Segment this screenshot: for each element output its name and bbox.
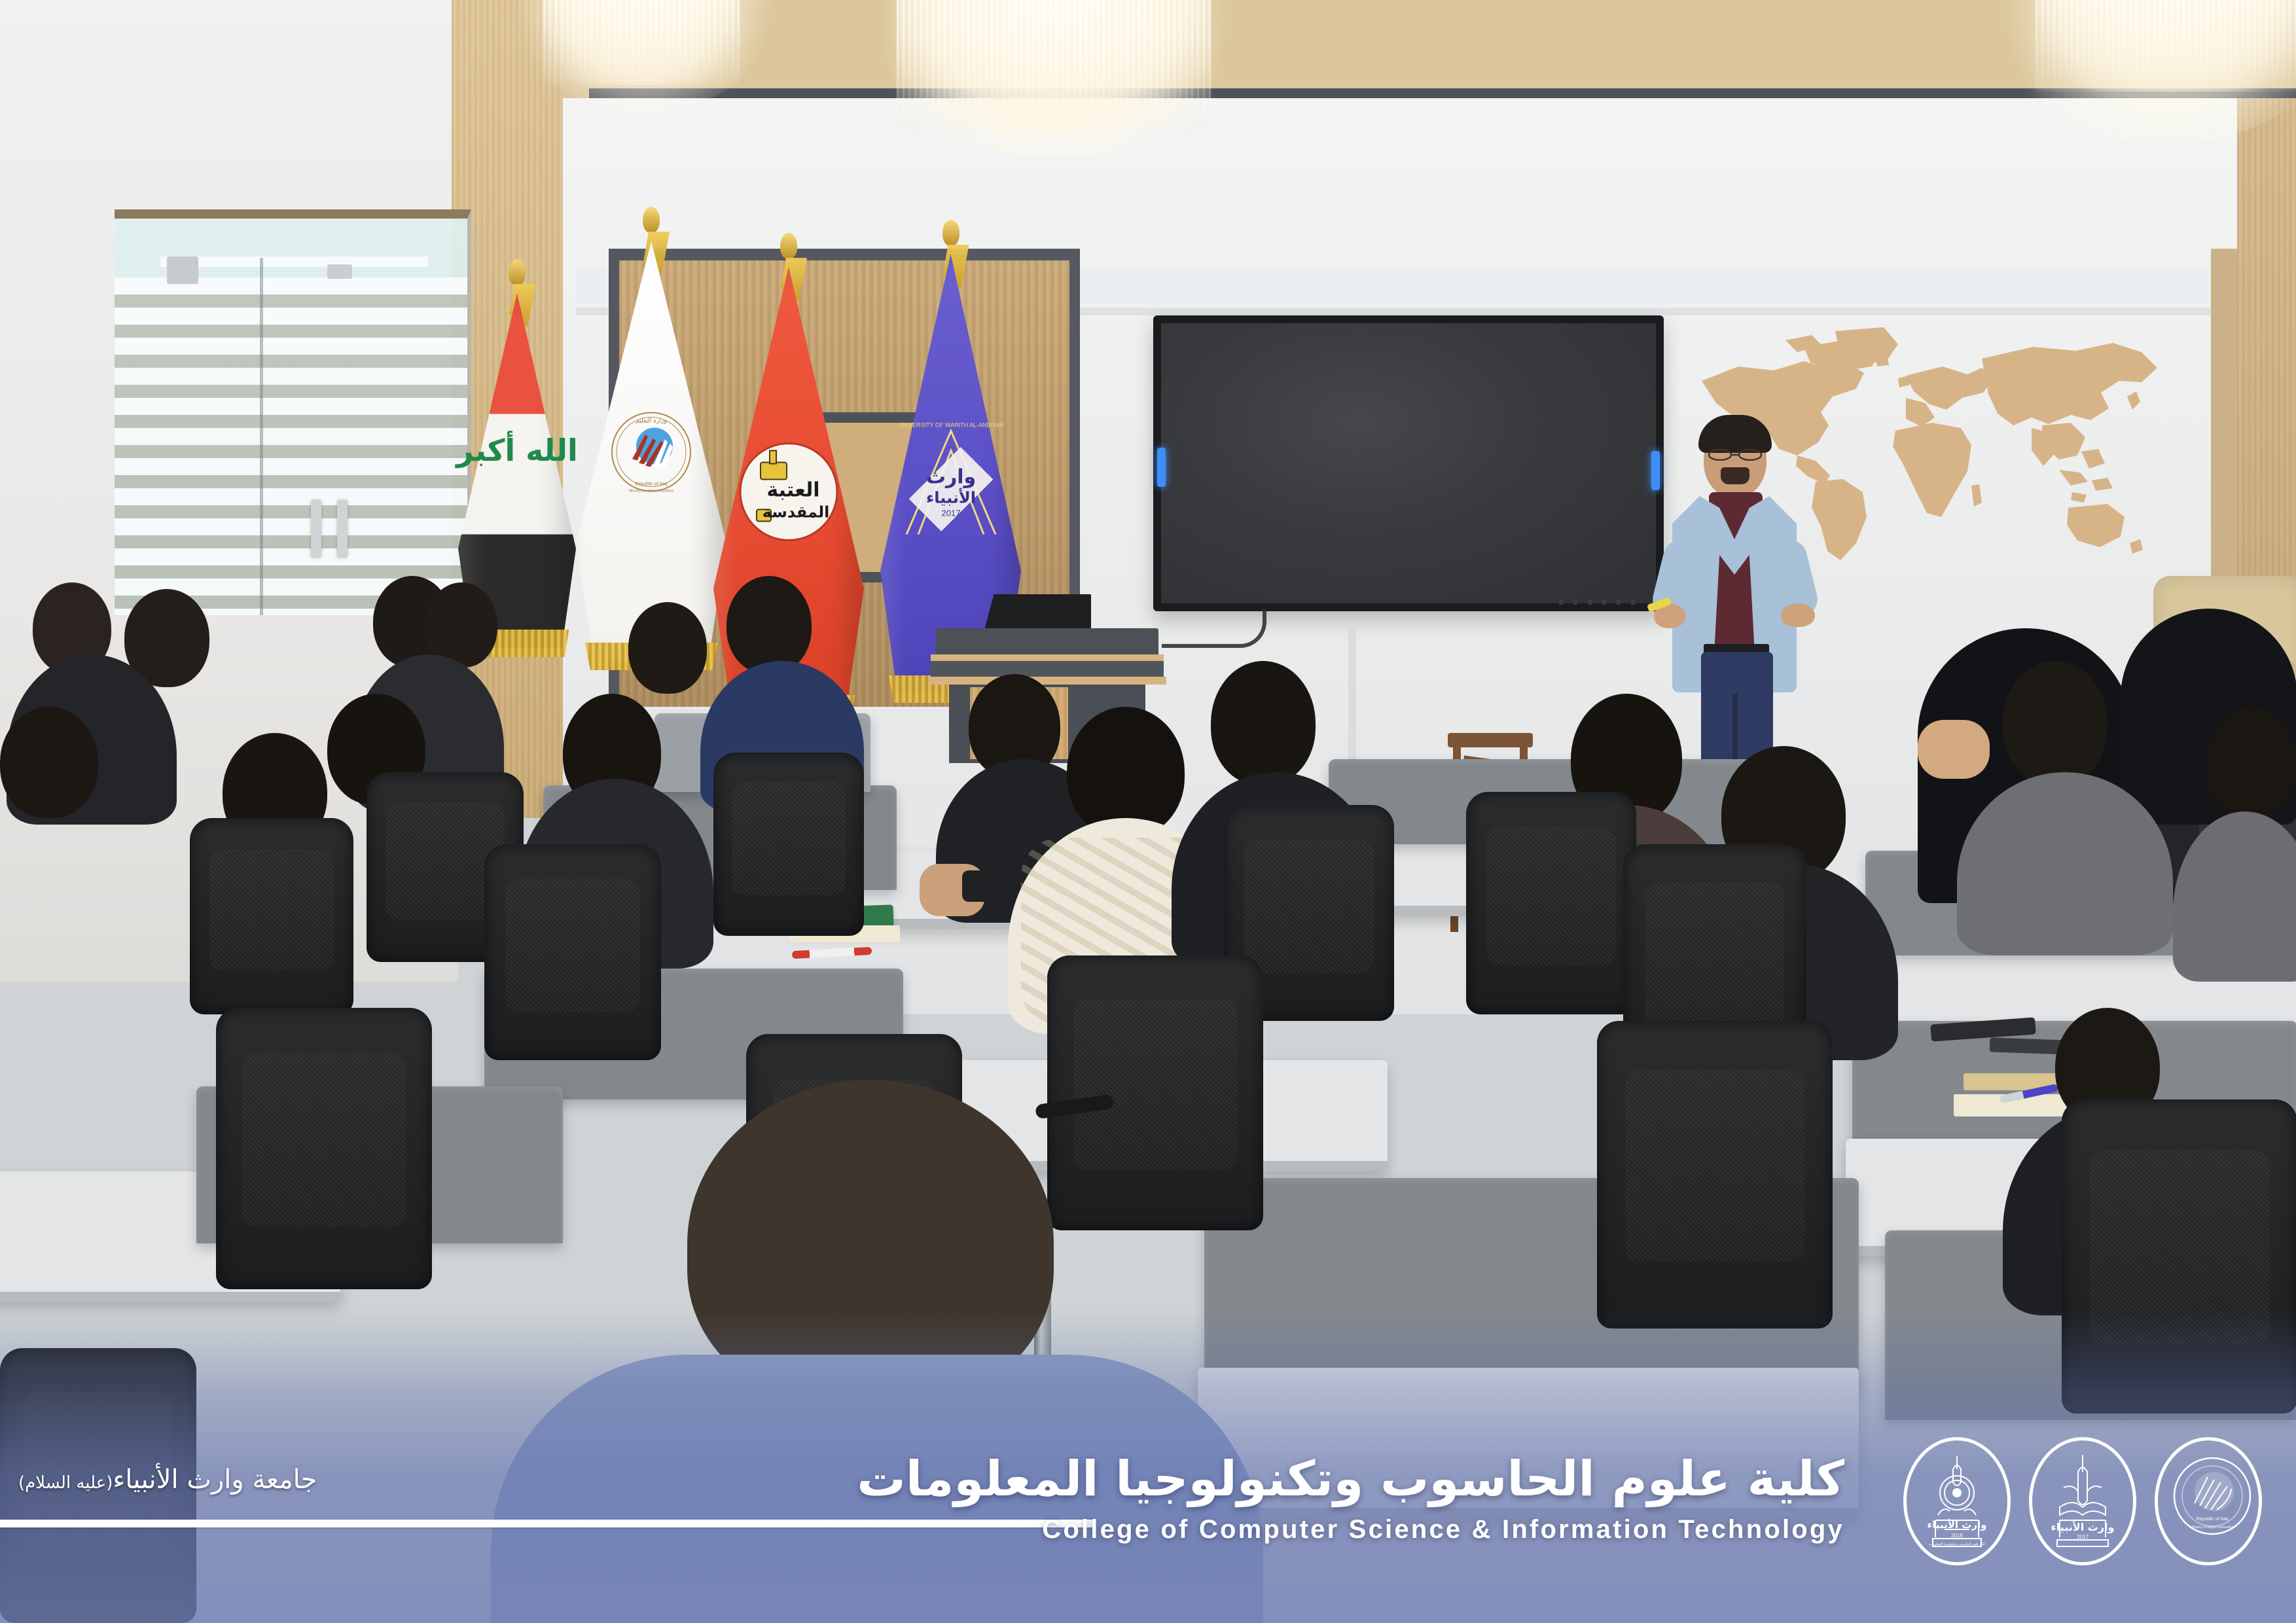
frosted-stripe-pattern xyxy=(115,277,467,615)
student-head xyxy=(1211,661,1316,785)
svg-text:المقدسة: المقدسة xyxy=(762,503,830,522)
office-chair xyxy=(1597,1021,1833,1329)
svg-text:وزارة التعليم: وزارة التعليم xyxy=(636,418,666,425)
display-panel xyxy=(1161,323,1656,603)
svg-text:2017: 2017 xyxy=(941,508,960,518)
glass-partition-door xyxy=(115,209,471,615)
svg-text:Republic of Iraq: Republic of Iraq xyxy=(2196,1517,2228,1522)
university-emblem-icon: وارث الأنبياء 2017 xyxy=(2029,1437,2136,1565)
university-name-arabic: جامعة وارث الأنبياء(عليه السلام) xyxy=(18,1465,317,1495)
office-chair xyxy=(216,1008,432,1289)
wristwatch xyxy=(962,870,999,902)
svg-text:وارث الأنبياء: وارث الأنبياء xyxy=(1928,1519,1987,1531)
glass-top-rail xyxy=(160,257,428,267)
ministry-emblem-icon: وزارة التعليم Republic of Iraq Ministry … xyxy=(602,403,700,505)
student-head xyxy=(628,602,707,694)
svg-text:العتبة: العتبة xyxy=(766,479,819,502)
office-chair xyxy=(713,753,864,936)
svg-text:الأنبياء: الأنبياء xyxy=(926,488,976,507)
chandelier-center xyxy=(897,0,1211,131)
svg-text:Ministry of Higher Education: Ministry of Higher Education xyxy=(629,490,674,493)
flag-finial-icon xyxy=(780,233,797,259)
ministry-flag: وزارة التعليم Republic of Iraq Ministry … xyxy=(576,229,726,661)
college-name-block: كلية علوم الحاسوب وتكنولوجيا المعلومات C… xyxy=(857,1451,1844,1544)
footer-logo-group: وارث الأنبياء 2016 كلية علوم الحاسوب وتك… xyxy=(1903,1437,2262,1565)
footer-brand-bar: جامعة وارث الأنبياء(عليه السلام) كلية عل… xyxy=(0,1427,2296,1623)
university-name-text: جامعة وارث الأنبياء xyxy=(113,1465,317,1495)
flag-finial-icon xyxy=(643,207,660,233)
flag-finial-icon xyxy=(942,220,960,246)
al-abbas-emblem-icon: العتبة المقدسة xyxy=(733,437,844,551)
screenshot-canvas: الله أكبر xyxy=(0,0,2296,1623)
chandelier-right xyxy=(2036,0,2296,92)
display-led-left-icon xyxy=(1157,448,1166,487)
svg-text:2017: 2017 xyxy=(2077,1534,2089,1540)
college-emblem-icon: وارث الأنبياء 2016 كلية علوم الحاسوب وتك… xyxy=(1903,1437,2011,1565)
glass-mullion xyxy=(260,258,263,615)
door-handle-left xyxy=(311,500,321,558)
lecture-hall-photo: الله أكبر xyxy=(0,0,2296,1623)
presenter-glasses-icon xyxy=(1706,449,1764,461)
college-name-english: College of Computer Science & Informatio… xyxy=(857,1515,1844,1544)
svg-text:Republic of Iraq: Republic of Iraq xyxy=(635,482,667,487)
chandelier-left xyxy=(543,0,740,85)
university-emblem-icon: وارث الأنبياء 2017 UNIVERSITY OF WARITH … xyxy=(892,410,1010,544)
office-chair xyxy=(484,844,661,1060)
flag-finial-icon xyxy=(509,259,526,285)
floor-pole xyxy=(1348,625,1356,766)
svg-text:وارث الأنبياء: وارث الأنبياء xyxy=(2051,1521,2115,1533)
svg-text:Ministry of Higher Education: Ministry of Higher Education xyxy=(2190,1525,2234,1529)
door-handle-right xyxy=(337,500,348,558)
glass-lock-plate xyxy=(167,257,198,284)
svg-text:وارث: وارث xyxy=(925,465,975,488)
student-head xyxy=(2003,661,2108,785)
student-head xyxy=(2206,707,2296,818)
presenter-beard xyxy=(1721,467,1749,484)
office-chair xyxy=(1466,792,1636,1014)
student-head xyxy=(0,707,98,818)
svg-text:UNIVERSITY OF WARITH AL-ANBIYA: UNIVERSITY OF WARITH AL-ANBIYAA xyxy=(898,421,1003,428)
presenter-hand-right xyxy=(1781,603,1815,627)
office-chair xyxy=(2062,1099,2296,1414)
interactive-display-screen[interactable] xyxy=(1153,315,1664,611)
iraq-flag-script: الله أكبر xyxy=(456,433,578,468)
student-head xyxy=(726,576,812,674)
college-name-arabic: كلية علوم الحاسوب وتكنولوجيا المعلومات xyxy=(857,1451,1844,1507)
display-cable xyxy=(1162,609,1266,648)
presenter-hair xyxy=(1698,415,1772,453)
university-honorific: (عليه السلام) xyxy=(18,1473,113,1493)
svg-text:2016: 2016 xyxy=(1951,1533,1963,1539)
glass-hinge xyxy=(327,264,352,279)
display-control-buttons[interactable] xyxy=(1559,599,1638,605)
ministry-emblem-icon: Republic of Iraq Ministry of Higher Educ… xyxy=(2155,1437,2262,1565)
office-chair xyxy=(190,818,353,1014)
student-hand xyxy=(1918,720,1990,779)
svg-text:كلية علوم الحاسوب وتكنولوجيا ا: كلية علوم الحاسوب وتكنولوجيا المعلومات xyxy=(1929,1543,1986,1546)
